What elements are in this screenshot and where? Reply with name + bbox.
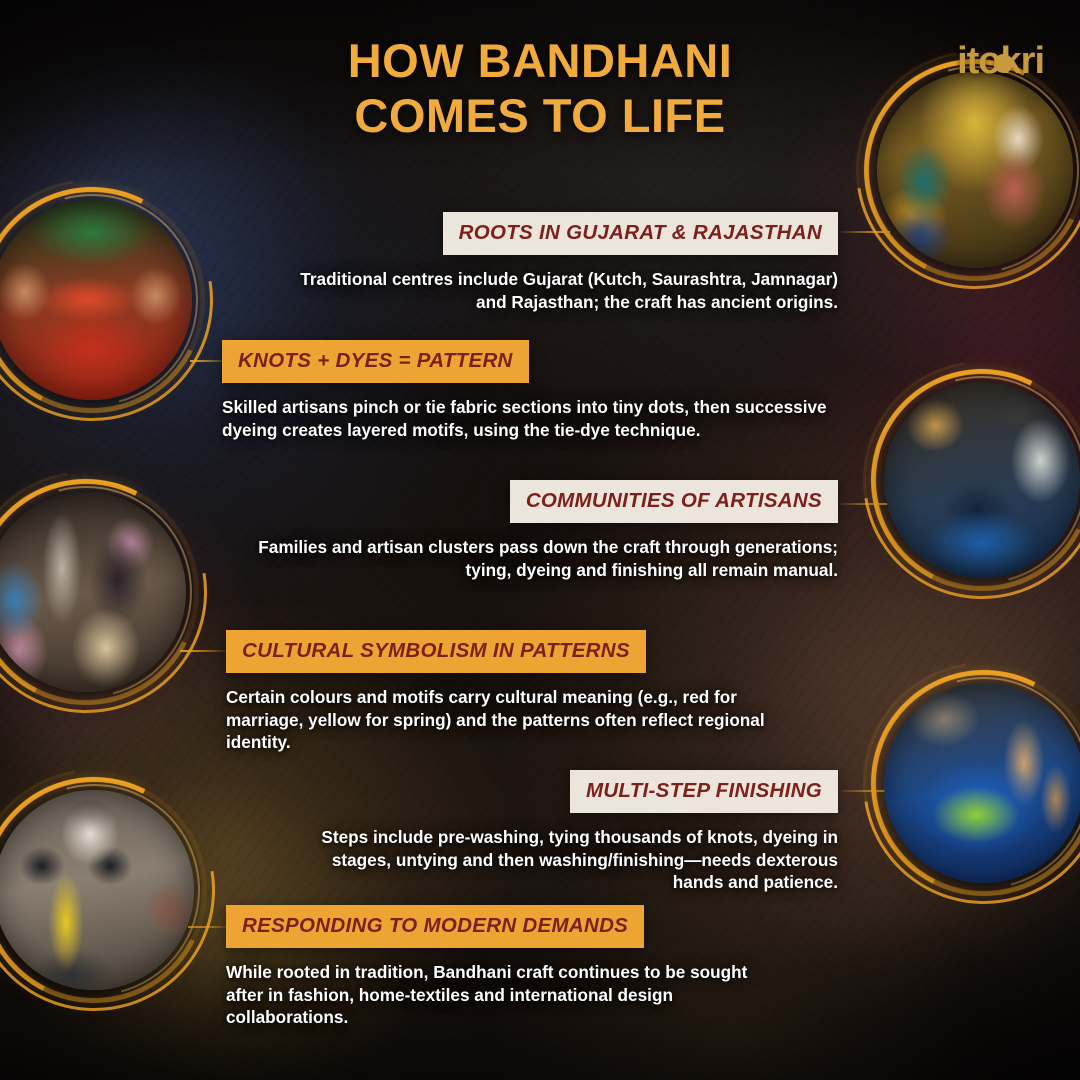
photo-disc bbox=[0, 790, 194, 990]
photo-disc bbox=[0, 200, 192, 400]
photo-disc bbox=[884, 382, 1080, 578]
section-cultural-symbolism-in-patterns: CULTURAL SYMBOLISM IN PATTERNS Certain c… bbox=[226, 630, 796, 754]
section-responding-to-modern-demands: RESPONDING TO MODERN DEMANDS While roote… bbox=[226, 905, 786, 1029]
photo-dyer-blue-tub bbox=[884, 382, 1080, 578]
section-3-body: Families and artisan clusters pass down … bbox=[244, 536, 838, 581]
page-title-line-2: COMES TO LIFE bbox=[0, 89, 1080, 144]
section-2-headline: KNOTS + DYES = PATTERN bbox=[222, 340, 529, 383]
photo-disc bbox=[0, 492, 186, 692]
photo-yellow-skein-dyeing bbox=[0, 790, 194, 990]
section-3-headline: COMMUNITIES OF ARTISANS bbox=[510, 480, 838, 523]
infographic-canvas: HOW BANDHANI COMES TO LIFE itokri bbox=[0, 0, 1080, 1080]
section-knots-dyes-pattern: KNOTS + DYES = PATTERN Skilled artisans … bbox=[222, 340, 838, 441]
photo-women-artisans bbox=[0, 492, 186, 692]
section-communities-of-artisans: COMMUNITIES OF ARTISANS Families and art… bbox=[244, 480, 838, 581]
photo-disc bbox=[884, 683, 1080, 883]
photo-inner-shadow bbox=[884, 683, 1080, 883]
photo-indigo-dye-vat bbox=[884, 683, 1080, 883]
photo-inner-shadow bbox=[0, 790, 194, 990]
photo-hands-knotting-red bbox=[0, 200, 192, 400]
section-5-body: Steps include pre-washing, tying thousan… bbox=[300, 826, 838, 894]
photo-inner-shadow bbox=[884, 382, 1080, 578]
section-2-body: Skilled artisans pinch or tie fabric sec… bbox=[222, 396, 838, 441]
section-4-headline: CULTURAL SYMBOLISM IN PATTERNS bbox=[226, 630, 646, 673]
section-1-body: Traditional centres include Gujarat (Kut… bbox=[280, 268, 838, 313]
page-title-line-1: HOW BANDHANI bbox=[0, 34, 1080, 89]
section-4-body: Certain colours and motifs carry cultura… bbox=[226, 686, 796, 754]
section-roots-in-gujarat-rajasthan: ROOTS IN GUJARAT & RAJASTHAN Traditional… bbox=[280, 212, 838, 313]
photo-inner-shadow bbox=[0, 200, 192, 400]
section-6-body: While rooted in tradition, Bandhani craf… bbox=[226, 961, 786, 1029]
page-title: HOW BANDHANI COMES TO LIFE bbox=[0, 34, 1080, 143]
section-multi-step-finishing: MULTI-STEP FINISHING Steps include pre-w… bbox=[300, 770, 838, 894]
section-5-headline: MULTI-STEP FINISHING bbox=[570, 770, 838, 813]
brand-logo[interactable]: itokri bbox=[957, 38, 1044, 84]
section-1-headline: ROOTS IN GUJARAT & RAJASTHAN bbox=[443, 212, 838, 255]
brand-logo-dot-icon bbox=[994, 54, 1013, 73]
section-6-headline: RESPONDING TO MODERN DEMANDS bbox=[226, 905, 644, 948]
